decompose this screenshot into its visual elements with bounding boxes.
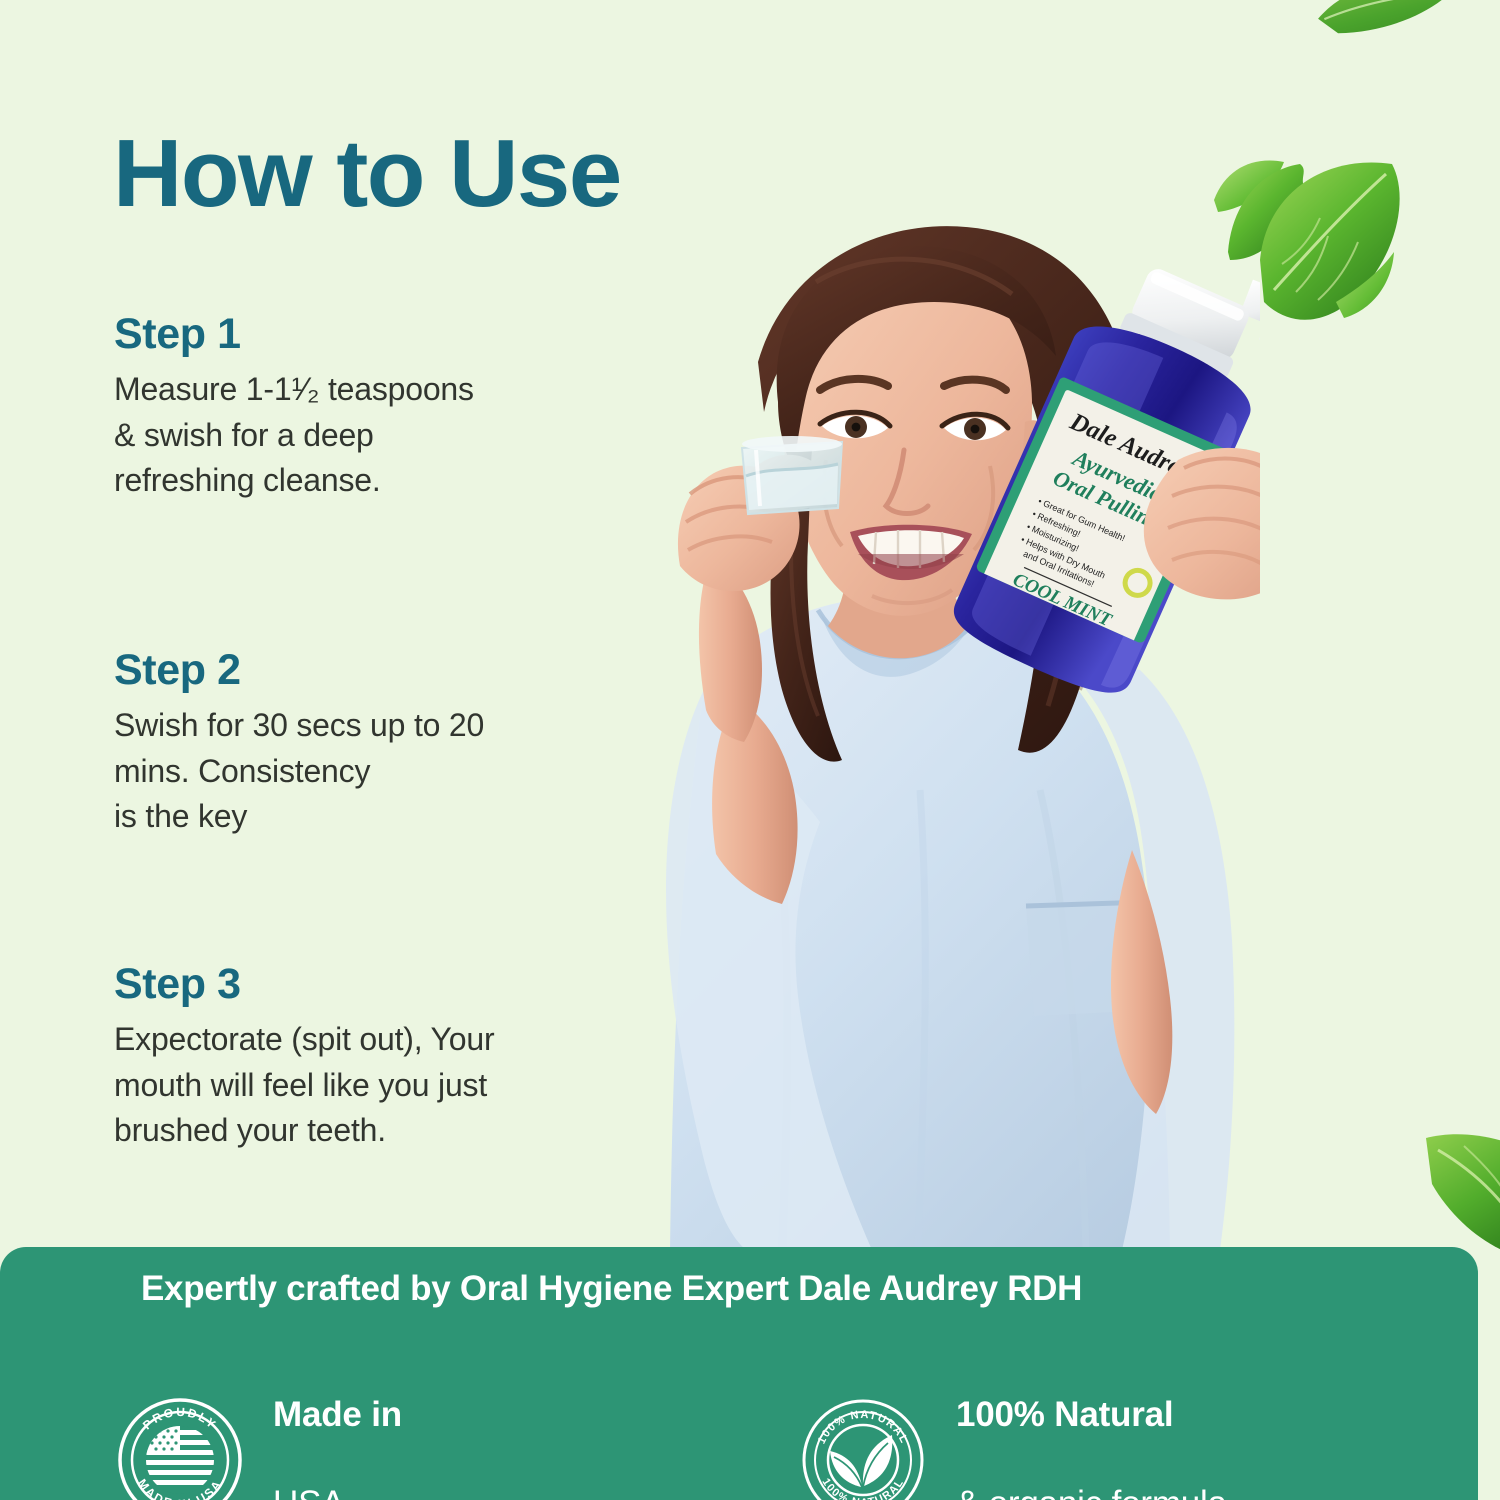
svg-text:• Refreshing!: • Refreshing! (1031, 509, 1082, 539)
svg-text:Dale Audrey: Dale Audrey (1065, 408, 1195, 486)
badge-natural-label-light: & organic formula (956, 1482, 1227, 1500)
badge-made-in-usa: PROUDLY MADE IN USA Made in USA (117, 1348, 402, 1500)
svg-text:• Moisturizing!: • Moisturizing! (1025, 522, 1080, 554)
badge-natural-label: 100% Natural & organic formula (956, 1348, 1227, 1500)
step-3-body: Expectorate (spit out), Your mouth will … (114, 1017, 614, 1153)
svg-text:and Oral Irritations!: and Oral Irritations! (1022, 549, 1096, 589)
badge-usa-label-strong: Made in (273, 1393, 402, 1438)
svg-text:100% NATURAL: 100% NATURAL (816, 1409, 911, 1446)
svg-text:COOL MINT: COOL MINT (1010, 569, 1116, 632)
measuring-cup (742, 436, 842, 514)
step-2-heading: Step 2 (114, 648, 614, 693)
mint-leaf-top-right-icon (1196, 140, 1496, 355)
badge-usa-label-light: USA (273, 1482, 402, 1500)
svg-text:• Great for Gum Health!: • Great for Gum Health! (1037, 496, 1127, 543)
svg-text:237 ml: 237 ml (1077, 631, 1102, 649)
hero-product-photo: Dale Audrey Ayurvedic Oral Pulling • Gre… (520, 150, 1260, 1250)
banner-headline: Expertly crafted by Oral Hygiene Expert … (141, 1269, 1082, 1309)
step-2-body: Swish for 30 secs up to 20 mins. Consist… (114, 703, 614, 839)
svg-text:Net Wt. 8 oz: Net Wt. 8 oz (993, 594, 1035, 619)
usa-flag-seal-icon: PROUDLY MADE IN USA (117, 1397, 243, 1500)
step-3-heading: Step 3 (114, 962, 614, 1007)
badge-100-natural: 100% NATURAL 100% NATURAL 100% Natural &… (800, 1348, 1227, 1500)
badge-natural-label-strong: 100% Natural (956, 1393, 1227, 1438)
svg-text:• Helps with Dry Mouth: • Helps with Dry Mouth (1019, 534, 1106, 580)
step-1-body: Measure 1-1¹⁄₂ teaspoons & swish for a d… (114, 367, 614, 503)
step-1-heading: Step 1 (114, 312, 614, 357)
step-block-1: Step 1 Measure 1-1¹⁄₂ teaspoons & swish … (114, 312, 614, 503)
infographic-canvas: How to Use Step 1 Measure 1-1¹⁄₂ teaspoo… (0, 0, 1500, 1500)
svg-text:Ayurvedic: Ayurvedic (1067, 445, 1165, 507)
mint-leaf-top-edge-icon (1310, 0, 1464, 77)
svg-text:Oral Pulling: Oral Pulling (1049, 465, 1164, 534)
shirt (670, 597, 1170, 1250)
badge-usa-label: Made in USA (273, 1348, 402, 1500)
step-block-2: Step 2 Swish for 30 secs up to 20 mins. … (114, 648, 614, 839)
page-title: How to Use (113, 124, 621, 225)
product-bottle: Dale Audrey Ayurvedic Oral Pulling • Gre… (944, 221, 1260, 759)
step-block-3: Step 3 Expectorate (spit out), Your mout… (114, 962, 614, 1153)
leaf-seal-icon: 100% NATURAL 100% NATURAL (800, 1397, 926, 1500)
